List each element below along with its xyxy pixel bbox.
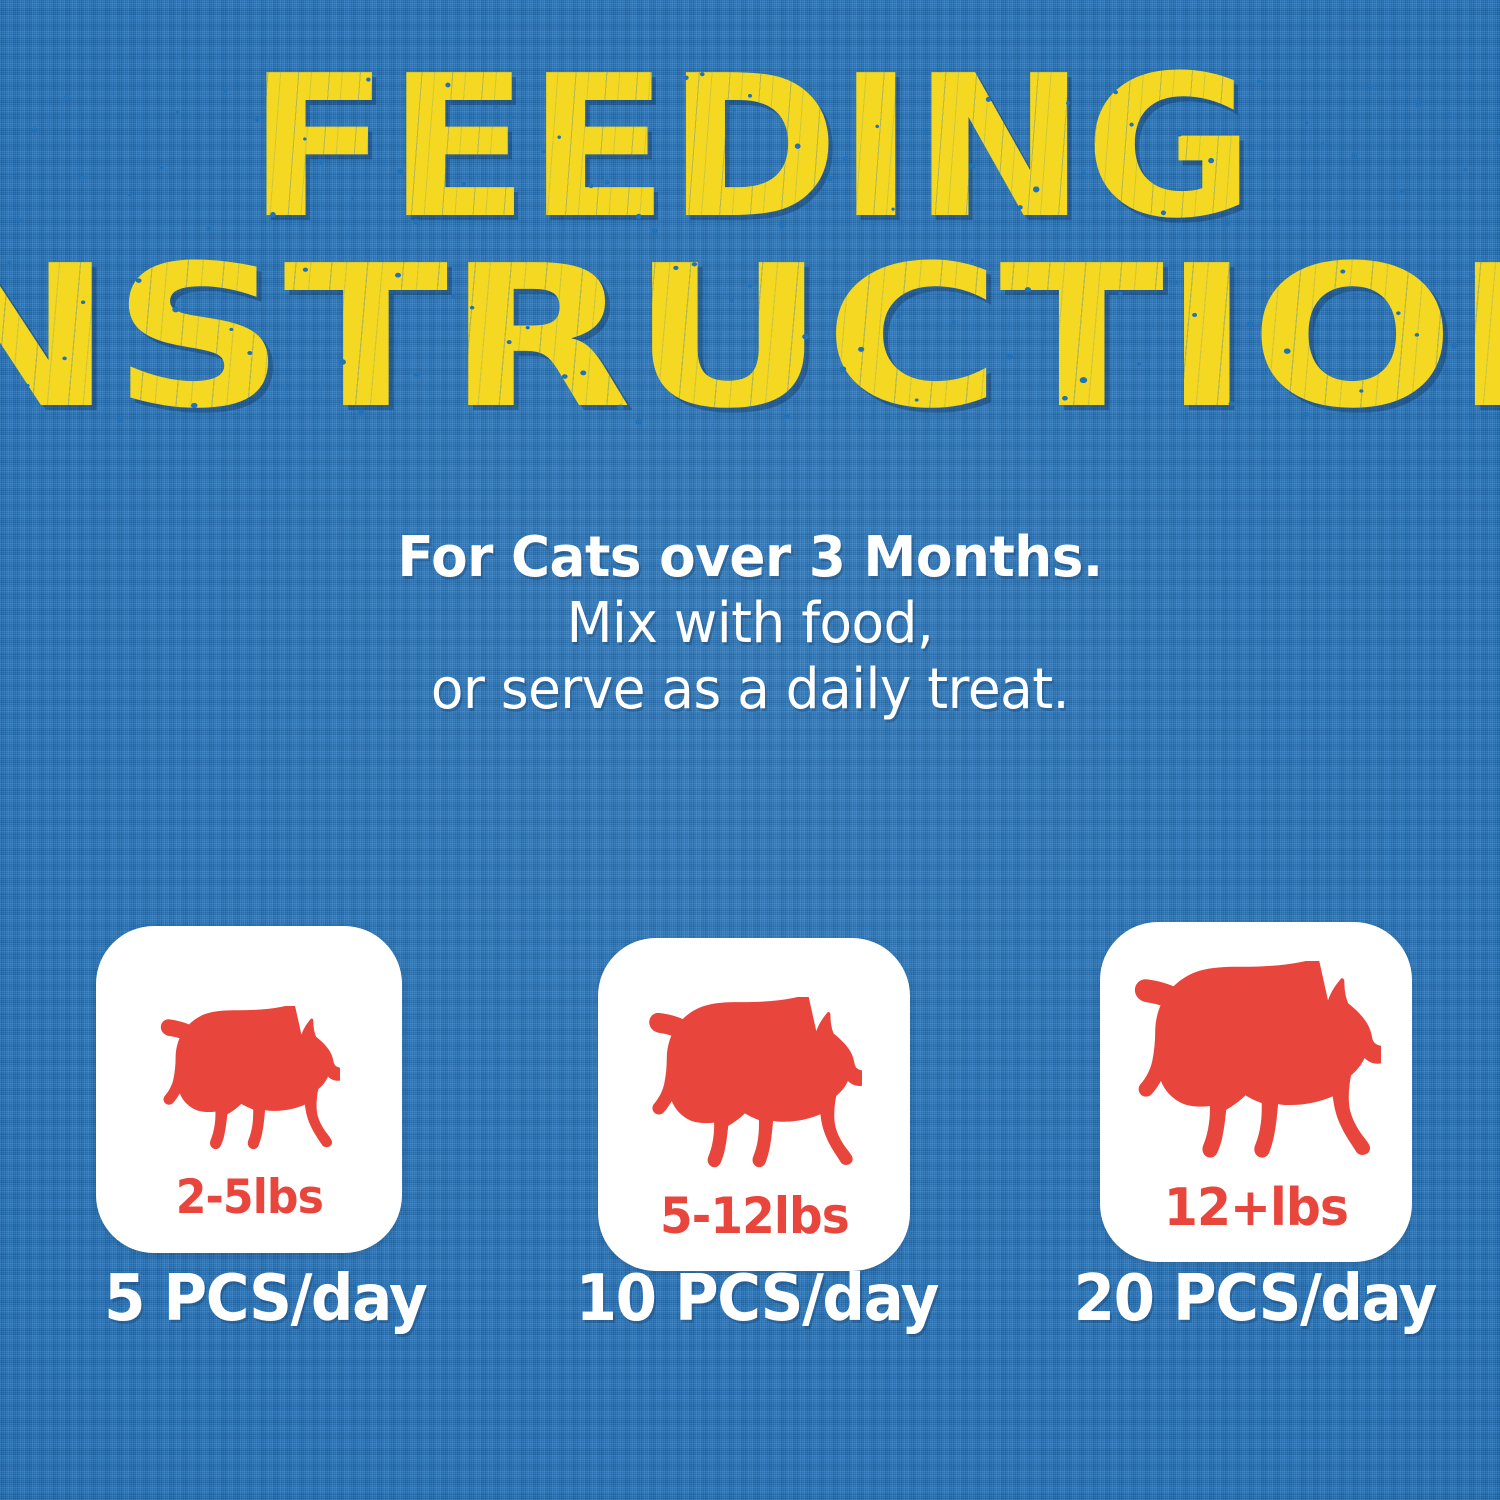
headline-line-instructions-text: INSTRUCTIONS: [0, 224, 1500, 452]
subtitle-line-1: For Cats over 3 Months.: [38, 525, 1463, 591]
headline-line-feeding: FEEDING: [0, 58, 1500, 238]
dose-label-large: 20 PCS/day: [1074, 1262, 1436, 1336]
feeding-card-small[interactable]: 2-5lbs: [96, 926, 402, 1253]
feeding-card-medium[interactable]: 5-12lbs: [598, 938, 910, 1271]
cat-silhouette-icon-large: [1131, 934, 1381, 1178]
feeding-cards-row: 2-5lbs 5-12lbs: [0, 918, 1500, 1258]
weight-label-large: 12+lbs: [1164, 1178, 1348, 1238]
headline-line-instructions: INSTRUCTIONS: [0, 248, 1500, 428]
weight-label-small: 2-5lbs: [175, 1170, 322, 1225]
weight-label-medium: 5-12lbs: [660, 1187, 849, 1245]
feeding-instructions-panel: FEEDING INSTRUCTIONS For Cats over 3 Mon…: [0, 0, 1500, 1500]
dose-label-medium: 10 PCS/day: [576, 1262, 938, 1336]
headline-block: FEEDING INSTRUCTIONS: [0, 58, 1500, 429]
subtitle-line-3: or serve as a daily treat.: [38, 657, 1463, 723]
feeding-card-large[interactable]: 12+lbs: [1100, 922, 1412, 1262]
cat-silhouette-icon-medium: [646, 961, 862, 1185]
subtitle-line-2: Mix with food,: [38, 591, 1463, 657]
cat-silhouette-icon-small: [158, 964, 340, 1164]
dose-label-small: 5 PCS/day: [104, 1262, 426, 1336]
subtitle-block: For Cats over 3 Months. Mix with food, o…: [0, 525, 1500, 723]
dose-labels-row: 5 PCS/day 10 PCS/day 20 PCS/day: [0, 1262, 1500, 1372]
